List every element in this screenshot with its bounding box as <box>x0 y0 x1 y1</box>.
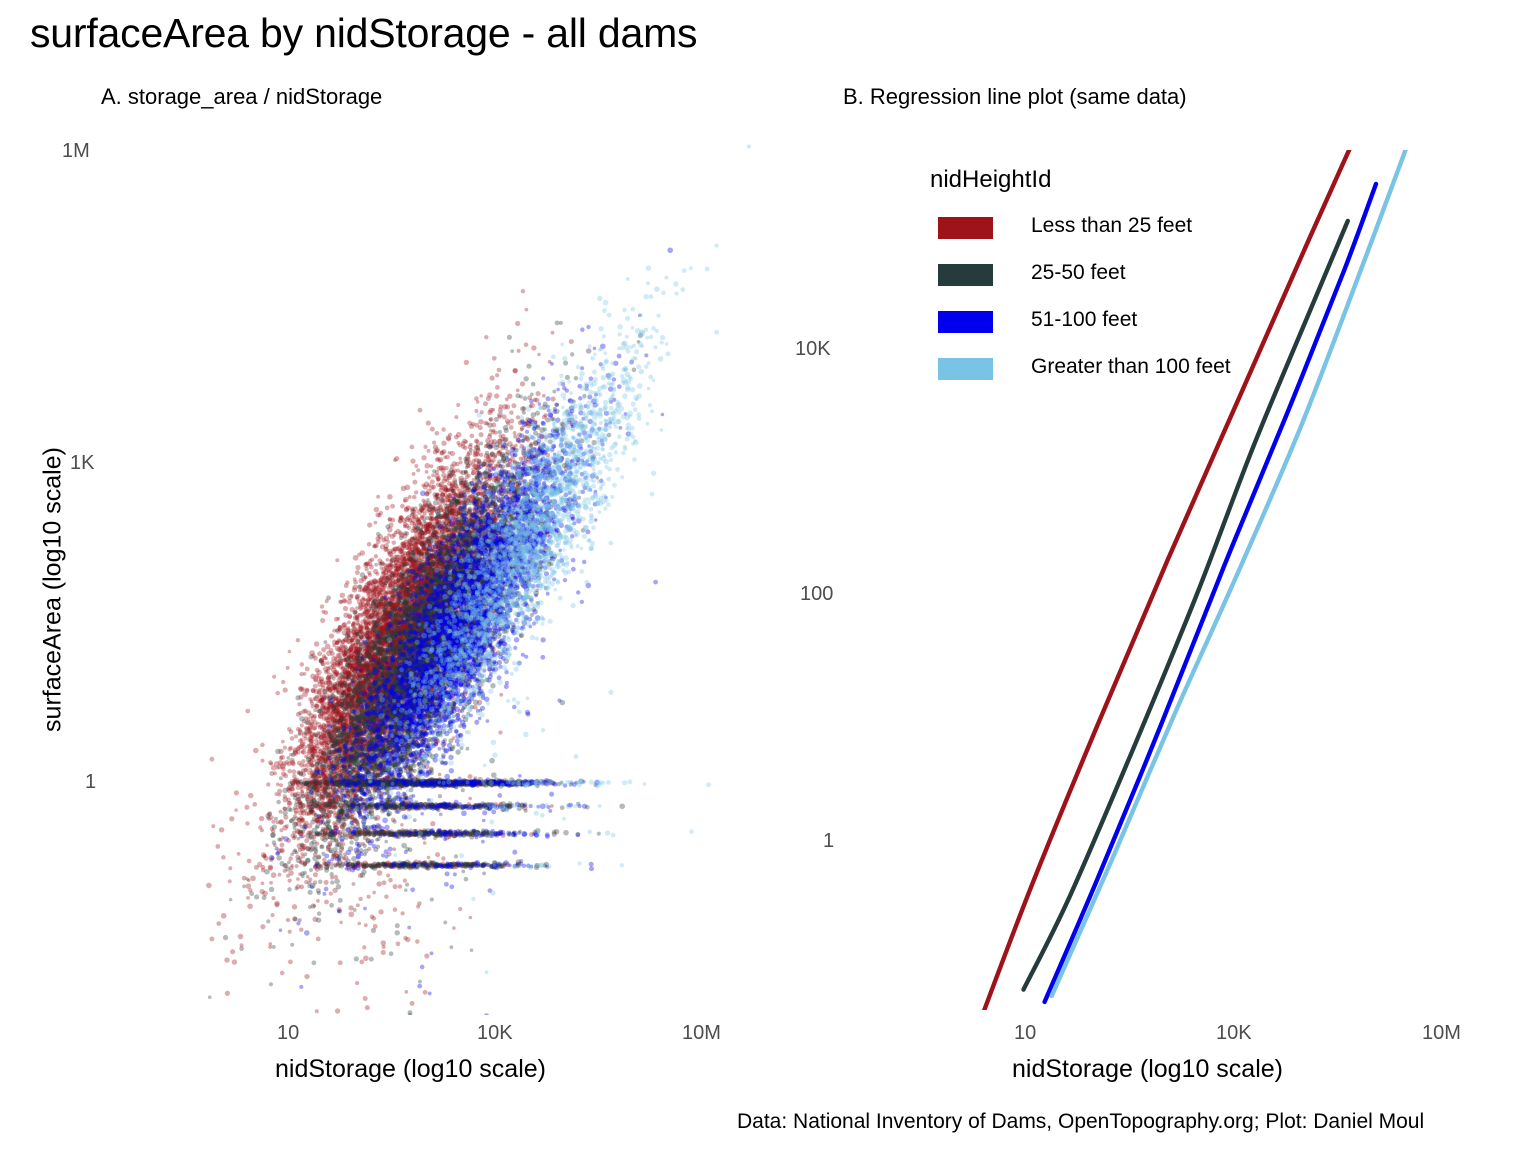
panel-b-regression-lines <box>850 150 1530 1010</box>
panel-b-xtick-10k: 10K <box>1216 1022 1252 1045</box>
panel-a-xaxis-title: nidStorage (log10 scale) <box>275 1055 546 1084</box>
panel-a-xtick-10k: 10K <box>477 1022 513 1045</box>
panel-a-xtick-10m: 10M <box>682 1022 721 1045</box>
regression-line <box>1052 150 1412 996</box>
panel-a-scatter-plot <box>100 135 820 1015</box>
panel-b-ytick-100: 100 <box>800 583 833 606</box>
panel-b-ytick-1: 1 <box>823 830 834 853</box>
panel-a-ytick-1k: 1K <box>70 452 94 475</box>
panel-a-yaxis-title: surfaceArea (log10 scale) <box>39 440 68 740</box>
panel-b-subtitle: B. Regression line plot (same data) <box>843 84 1187 110</box>
panel-a-ytick-1m: 1M <box>62 140 90 163</box>
panel-b-xtick-10m: 10M <box>1422 1022 1461 1045</box>
regression-line <box>1045 184 1376 1002</box>
panel-b-xtick-10: 10 <box>1014 1022 1036 1045</box>
panel-b-xaxis-title: nidStorage (log10 scale) <box>1012 1055 1283 1084</box>
panel-a-subtitle: A. storage_area / nidStorage <box>101 84 382 110</box>
page-title: surfaceArea by nidStorage - all dams <box>30 8 697 58</box>
panel-a-ytick-1: 1 <box>85 771 96 794</box>
panel-a-xtick-10: 10 <box>277 1022 299 1045</box>
source-caption: Data: National Inventory of Dams, OpenTo… <box>737 1110 1424 1134</box>
regression-line <box>1024 221 1348 990</box>
panel-b-ytick-10k: 10K <box>795 338 831 361</box>
chart-canvas: surfaceArea by nidStorage - all dams A. … <box>0 0 1536 1152</box>
